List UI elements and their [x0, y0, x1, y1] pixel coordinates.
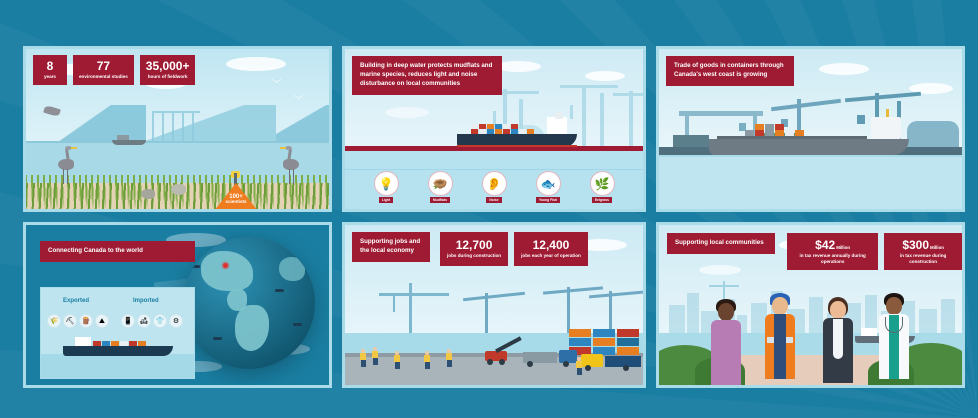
furniture-icon: 🛋 [137, 314, 151, 328]
stat-number: 8 [47, 60, 54, 72]
imported-label: Imported [133, 298, 159, 304]
noise-ear-icon: 👂 [482, 171, 507, 196]
icon-item[interactable]: 💡 Light [372, 171, 400, 203]
deep-water-panel: Building in deep water protects mudflats… [342, 46, 646, 212]
construction-worker [445, 349, 453, 367]
scientists-buoy-marker: 100+ scientists [214, 173, 258, 211]
stat-card: 35,000+ hours of fieldwork [140, 55, 196, 85]
estuary-stat-row: 8 years 77 environmental studies 35,000+… [33, 55, 195, 85]
connecting-canada-panel: Exported Imported 🌾 ⛏ 🪵 ⛰ 📱 🛋 👕 ⚙ [23, 222, 332, 388]
vessel-dot [275, 289, 284, 292]
seagull-icon [258, 57, 267, 61]
stat-label: hours of fieldwork [148, 74, 188, 80]
vessel-dot [213, 337, 222, 340]
icon-item[interactable]: 🐟 Young Fish [534, 171, 562, 203]
card-water [41, 354, 194, 378]
stat-card: $42 Million in tax revenue annually duri… [787, 233, 878, 270]
grain-icon: 🌾 [47, 314, 61, 328]
heron-bird [56, 145, 76, 185]
sandpiper-bird [141, 189, 155, 199]
community-member-resident [709, 293, 743, 385]
train [673, 135, 709, 147]
stat-card: $300 Million in tax revenue during const… [884, 233, 962, 270]
stat-number: 12,700 [456, 239, 493, 251]
icon-label: Mudflats [430, 197, 450, 203]
machinery-icon: ⚙ [169, 314, 183, 328]
goods-icon-row: 🌾 ⛏ 🪵 ⛰ 📱 🛋 👕 ⚙ [47, 314, 188, 328]
stat-label: environmental studies [79, 74, 128, 80]
stat-number: 12,400 [533, 239, 570, 251]
community-member-professional [821, 291, 855, 383]
icon-item[interactable]: 👂 Noise [480, 171, 508, 203]
buoy-label: scientists [214, 200, 258, 205]
icon-label: Young Fish [536, 197, 560, 203]
terminal-silhouette [152, 111, 200, 141]
seagull-icon [294, 95, 303, 99]
city-skyline [659, 287, 962, 339]
cloud [699, 265, 741, 275]
container-vessel [63, 332, 173, 356]
container-ship [457, 113, 577, 147]
connecting-headline: Connecting Canada to the world [40, 241, 195, 262]
stat-card: 12,700 jobs during construction [440, 232, 508, 266]
stat-number: 77 [97, 60, 110, 72]
stat-label: years [44, 74, 56, 80]
local-communities-panel: Supporting local communities $42 Million… [656, 222, 965, 388]
lumber-icon: 🪵 [79, 314, 93, 328]
stat-card: 77 environmental studies [73, 55, 134, 85]
community-stat-row: $42 Million in tax revenue annually duri… [787, 233, 962, 270]
icon-label: Light [379, 197, 393, 203]
icon-item[interactable]: 🪹 Mudflats [426, 171, 454, 203]
cloud [385, 107, 429, 118]
deep-water-headline: Building in deep water protects mudflats… [352, 56, 502, 95]
potash-icon: ⛏ [63, 314, 77, 328]
stat-label: jobs during construction [447, 253, 501, 259]
construction-worker [575, 357, 583, 375]
exported-label: Exported [63, 298, 89, 304]
community-member-doctor [877, 287, 911, 379]
community-headline: Supporting local communities [667, 233, 775, 254]
cloud [819, 63, 869, 75]
location-pin-icon [223, 263, 228, 268]
warehouse [907, 121, 959, 149]
buoy-stat: 100+ scientists [214, 194, 258, 205]
stat-label: jobs each year of operation [521, 253, 581, 259]
icon-label: Noise [486, 197, 501, 203]
yellow-truck [581, 351, 641, 371]
cloud [226, 57, 286, 71]
icon-label: Eelgrass [592, 197, 612, 203]
stat-unit: Million [836, 245, 850, 250]
heron-bird [281, 145, 301, 185]
harbour-water [659, 155, 962, 209]
trade-headline: Trade of goods in containers through Can… [666, 56, 794, 86]
stat-unit: Million [930, 245, 944, 250]
estuary-environment-panel: 100+ scientists 8 years [23, 46, 332, 212]
seagull-icon [238, 67, 247, 71]
vessel-dot [293, 323, 302, 326]
apparel-icon: 👕 [153, 314, 167, 328]
jobs-economy-panel: Supporting jobs and the local economy 12… [342, 222, 646, 388]
eelgrass-icon: 🌿 [590, 171, 615, 196]
stat-label: in tax revenue during construction [890, 253, 956, 264]
stat-label: in tax revenue annually during operation… [793, 253, 872, 264]
icon-item[interactable]: 🌿 Eelgrass [588, 171, 616, 203]
construction-worker [423, 351, 431, 369]
jobs-headline: Supporting jobs and the local economy [352, 232, 430, 262]
vessel [112, 135, 146, 145]
coal-icon: ⛰ [95, 314, 109, 328]
mudflats-icon: 🪹 [428, 171, 453, 196]
lightbulb-icon: 💡 [374, 171, 399, 196]
community-member-worker [763, 287, 797, 379]
jobs-stat-row: 12,700 jobs during construction 12,400 j… [440, 232, 588, 266]
environment-icon-row: 💡 Light 🪹 Mudflats 👂 Noise 🐟 Young Fish … [345, 169, 643, 203]
globe-graphic [183, 237, 315, 369]
fish-icon: 🐟 [536, 171, 561, 196]
stat-number: $42 [815, 239, 835, 251]
cargo-ship [709, 115, 909, 155]
stat-card: 12,400 jobs each year of operation [514, 232, 588, 266]
stat-card: 8 years [33, 55, 67, 85]
stat-number: 35,000+ [146, 60, 190, 72]
trade-goods-card: Exported Imported 🌾 ⛏ 🪵 ⛰ 📱 🛋 👕 ⚙ [40, 287, 195, 379]
vessel-dot [191, 265, 200, 268]
construction-worker [371, 347, 379, 365]
container-trade-panel: Trade of goods in containers through Can… [656, 46, 965, 212]
construction-worker [359, 349, 367, 367]
stat-number: $300 [902, 239, 929, 251]
infographic-grid: 100+ scientists 8 years [23, 46, 955, 388]
seagull-icon [272, 79, 281, 83]
cloud [585, 71, 625, 81]
construction-worker [393, 351, 401, 369]
semi-truck [523, 347, 579, 367]
electronics-icon: 📱 [121, 314, 135, 328]
sandpiper-bird [171, 184, 186, 195]
